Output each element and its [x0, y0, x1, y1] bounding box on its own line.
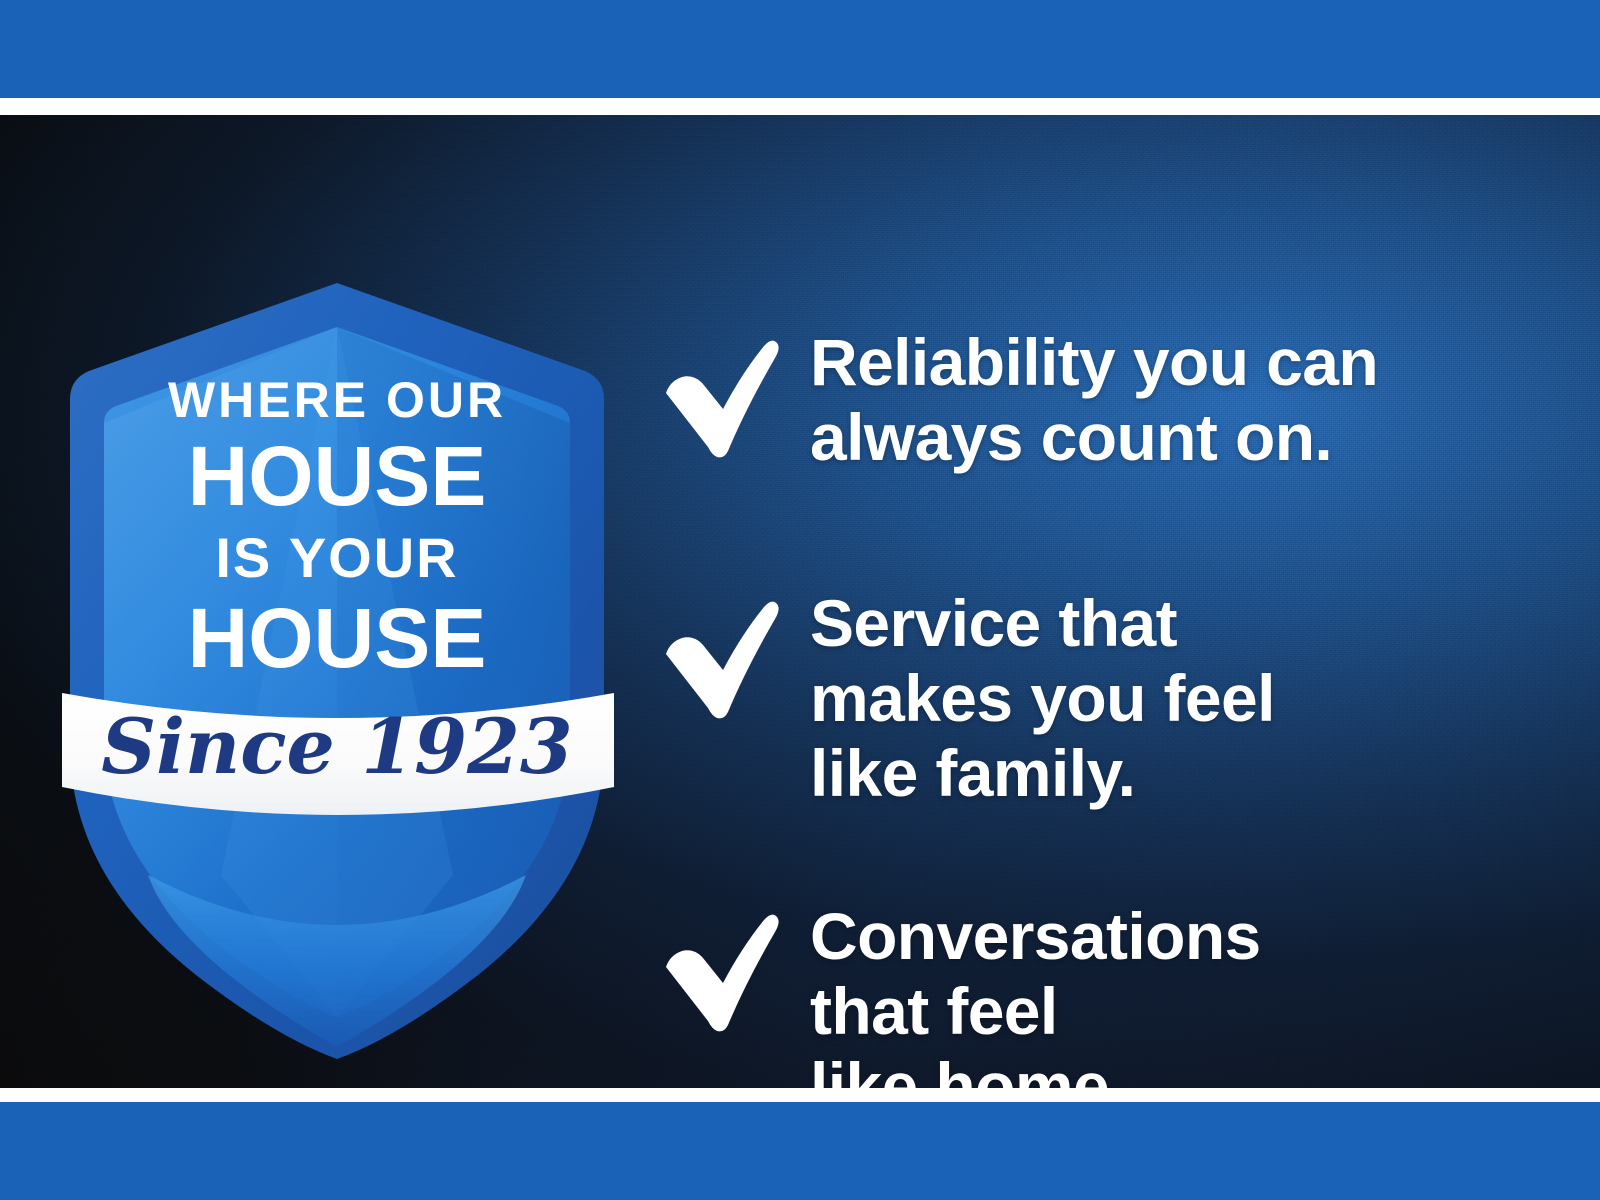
check-icon — [660, 586, 810, 720]
emblem-wordmark: WHERE OUR HOUSE IS YOUR HOUSE — [168, 372, 506, 685]
benefit-item: Conversations that feel like home. — [660, 899, 1261, 1088]
benefit-item: Service that makes you feel like family. — [660, 586, 1275, 812]
emblem-line-3: IS YOUR — [215, 526, 458, 589]
ribbon-text: Since 1923 — [101, 702, 573, 791]
top-brand-bar — [0, 0, 1600, 98]
benefit-label: Service that makes you feel like family. — [810, 586, 1275, 812]
check-icon — [660, 325, 810, 459]
emblem-line-2: HOUSE — [188, 429, 487, 523]
benefit-label: Reliability you can always count on. — [810, 325, 1378, 475]
emblem-line-4: HOUSE — [188, 591, 487, 685]
promo-banner: WHERE OUR HOUSE IS YOUR HOUSE Since 1923 — [0, 0, 1600, 1200]
emblem-line-1: WHERE OUR — [168, 372, 506, 428]
bottom-brand-bar — [0, 1102, 1600, 1200]
benefit-item: Reliability you can always count on. — [660, 325, 1378, 475]
benefits-list: Reliability you can always count on. Ser… — [660, 233, 1540, 1088]
content-stage: WHERE OUR HOUSE IS YOUR HOUSE Since 1923 — [0, 115, 1600, 1088]
emblem-ribbon: Since 1923 — [62, 693, 614, 815]
brand-emblem: WHERE OUR HOUSE IS YOUR HOUSE Since 1923 — [58, 275, 618, 1065]
check-icon — [660, 899, 810, 1033]
benefit-label: Conversations that feel like home. — [810, 899, 1261, 1088]
